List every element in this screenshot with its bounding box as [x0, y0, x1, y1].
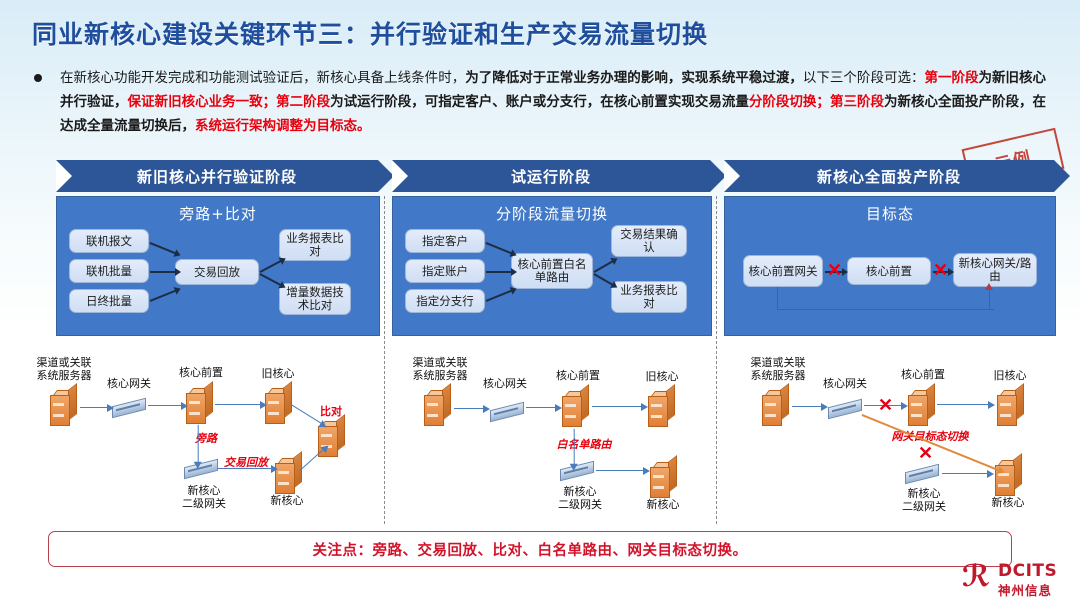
a3-x-icon-2: ✕	[918, 444, 933, 462]
panel-1-flow: 旁路+比对 联机报文 联机批量 日终批量 交易回放 业务报表比对 增量数据技术比…	[56, 196, 380, 336]
p2-link-in-1	[486, 242, 513, 254]
a2-newcore-label: 新核心	[628, 498, 698, 511]
a3-source-label: 渠道或关联 系统服务器	[734, 356, 822, 382]
p1-link-out-1	[260, 260, 282, 273]
p3-red-bypass-arrow	[985, 283, 993, 290]
panel-3-flow: 目标态 核心前置网关 核心前置 新核心网关/路由 ✕ ✕	[724, 196, 1056, 336]
a3-gateway-icon	[828, 400, 862, 416]
bullet-seg-2: 为了降低对于正常业务办理的影响，实现系统平稳过渡，	[465, 70, 803, 86]
dcits-logo-mark-icon: ℛ	[962, 562, 994, 592]
a2-oldcore-server-icon	[648, 391, 674, 425]
bullet-dot-icon	[34, 74, 42, 82]
a1-gateway-label: 核心网关	[96, 377, 162, 390]
a2-gateway-label: 核心网关	[472, 377, 538, 390]
a3-front-label: 核心前置	[890, 368, 956, 381]
a1-newcore-server-icon	[275, 458, 301, 492]
p2-input-3[interactable]: 指定分支行	[405, 289, 485, 313]
a1-front-label: 核心前置	[168, 366, 234, 379]
a1-arrow-replay	[218, 468, 272, 469]
p1-link-out-2	[260, 273, 282, 286]
bullet-seg-1: 在新核心功能开发完成和功能测试验证后，新核心具备上线条件时，	[60, 70, 465, 86]
bullet-seg-4: 第一阶段	[924, 70, 978, 86]
panel-2-title: 分阶段流量切换	[393, 203, 711, 224]
a1-newcore-label: 新核心	[252, 494, 322, 507]
a3-front-server-icon	[908, 390, 934, 424]
a2-gateway-icon	[490, 403, 524, 419]
bullet-seg-3: 以下三个阶段可选：	[803, 70, 925, 86]
panel-3-title: 目标态	[725, 203, 1055, 224]
dcits-logo: ℛ DCITS 神州信息	[962, 560, 1070, 600]
a3-arrow-3	[937, 404, 989, 405]
a2-arrow-4	[596, 470, 644, 471]
a1-bypass-label: 旁路	[186, 432, 226, 445]
p1-input-2[interactable]: 联机批量	[69, 259, 149, 283]
a3-gateway-label: 核心网关	[812, 377, 878, 390]
p3-x-icon-1: ✕	[827, 261, 842, 279]
a3-oldcore-label: 旧核心	[982, 369, 1038, 382]
p2-link-in-3	[486, 290, 513, 302]
a2-source-label: 渠道或关联 系统服务器	[396, 356, 484, 382]
p3-node-3[interactable]: 新核心网关/路由	[953, 253, 1037, 287]
a2-arrow-2	[526, 407, 556, 408]
a3-second-gateway-icon	[905, 465, 939, 481]
phase-banner-1[interactable]: 新旧核心并行验证阶段	[56, 160, 378, 192]
p1-link-in-3	[150, 290, 177, 302]
a1-front-server-icon	[186, 388, 212, 422]
a3-second-gateway-label: 新核心 二级网关	[882, 487, 966, 513]
bullet-seg-12: 系统运行架构调整为目标态。	[195, 118, 371, 134]
p1-output-1[interactable]: 业务报表比对	[279, 229, 351, 261]
slide-root: 同业新核心建设关键环节三：并行验证和生产交易流量切换 在新核心功能开发完成和功能…	[0, 0, 1080, 608]
p2-output-1[interactable]: 交易结果确认	[611, 225, 687, 257]
a3-arrow-1	[792, 406, 822, 407]
p1-link-in-2	[150, 271, 176, 273]
p2-hub[interactable]: 核心前置白名单路由	[511, 253, 593, 289]
a2-arrow-route	[573, 429, 574, 465]
a2-front-server-icon	[562, 391, 588, 425]
p1-output-2[interactable]: 增量数据技术比对	[279, 283, 351, 315]
bullet-body: 在新核心功能开发完成和功能测试验证后，新核心具备上线条件时，为了降低对于正常业务…	[60, 66, 1046, 138]
p3-x-icon-2: ✕	[933, 261, 948, 279]
bullet-seg-10: 第三阶段	[830, 94, 884, 110]
phase-banner-2[interactable]: 试运行阶段	[392, 160, 710, 192]
p3-red-bypass-line	[777, 287, 994, 310]
a2-front-label: 核心前置	[545, 369, 611, 382]
dcits-logo-cn: 神州信息	[998, 580, 1052, 599]
a2-arrow-3	[592, 406, 642, 407]
a1-arrow-1	[80, 407, 108, 408]
p1-link-in-1	[150, 242, 177, 254]
a3-source-server-icon	[762, 390, 788, 424]
p3-node-1[interactable]: 核心前置网关	[743, 255, 823, 287]
p1-hub[interactable]: 交易回放	[175, 259, 259, 285]
phase-banner-3[interactable]: 新核心全面投产阶段	[724, 160, 1054, 192]
p2-input-2[interactable]: 指定账户	[405, 259, 485, 283]
p2-link-in-2	[486, 271, 512, 273]
a3-oldcore-server-icon	[997, 390, 1023, 424]
bullet-seg-6: 保证新旧核心业务一致；	[128, 94, 277, 110]
a3-x-icon-1: ✕	[878, 396, 893, 414]
a1-arrow-cmp-2	[300, 449, 325, 471]
p2-output-2[interactable]: 业务报表比对	[611, 281, 687, 313]
a1-arrow-3	[215, 404, 261, 405]
p2-link-out-2	[594, 273, 614, 285]
a2-newcore-server-icon	[650, 462, 676, 496]
a2-source-server-icon	[424, 390, 450, 424]
p3-red-bypass-riser	[989, 287, 990, 309]
a2-oldcore-label: 旧核心	[634, 370, 690, 383]
a1-source-server-icon	[50, 390, 76, 424]
panel-divider-1	[384, 196, 385, 524]
a1-gateway-icon	[112, 399, 146, 415]
footer-note: 关注点：旁路、交易回放、比对、白名单路由、网关目标态切换。	[48, 531, 1012, 567]
a2-route-label: 白名单路由	[545, 438, 623, 451]
bullet-seg-7: 第二阶段	[276, 94, 330, 110]
a1-second-gateway-label: 新核心 二级网关	[162, 484, 246, 510]
bullet-seg-9: 分阶段切换；	[749, 94, 830, 110]
a1-compare-label: 比对	[310, 405, 352, 418]
a1-oldcore-server-icon	[265, 388, 291, 422]
page-title: 同业新核心建设关键环节三：并行验证和生产交易流量切换	[32, 15, 708, 51]
bullet-paragraph: 在新核心功能开发完成和功能测试验证后，新核心具备上线条件时，为了降低对于正常业务…	[34, 66, 1046, 138]
p1-input-3[interactable]: 日终批量	[69, 289, 149, 313]
panel-divider-2	[716, 196, 717, 524]
a2-second-gateway-label: 新核心 二级网关	[538, 485, 622, 511]
panel-2-flow: 分阶段流量切换 指定客户 指定账户 指定分支行 核心前置白名单路由 交易结果确认…	[392, 196, 712, 336]
p2-link-out-1	[594, 260, 614, 272]
a3-newcore-label: 新核心	[973, 496, 1043, 509]
a2-arrow-1	[454, 408, 484, 409]
a1-arrow-2	[148, 405, 182, 406]
p3-node-2[interactable]: 核心前置	[847, 257, 931, 285]
p1-input-1[interactable]: 联机报文	[69, 229, 149, 253]
panel-1-title: 旁路+比对	[57, 203, 379, 224]
dcits-logo-en: DCITS	[998, 561, 1057, 581]
bullet-seg-8: 为试运行阶段，可指定客户、账户或分支行，在核心前置实现交易流量	[330, 94, 749, 110]
a1-source-label: 渠道或关联 系统服务器	[20, 356, 108, 382]
p2-input-1[interactable]: 指定客户	[405, 229, 485, 253]
a1-arrow-bypass	[197, 425, 198, 463]
a3-arrow-4	[942, 473, 988, 474]
a1-oldcore-label: 旧核心	[250, 367, 306, 380]
